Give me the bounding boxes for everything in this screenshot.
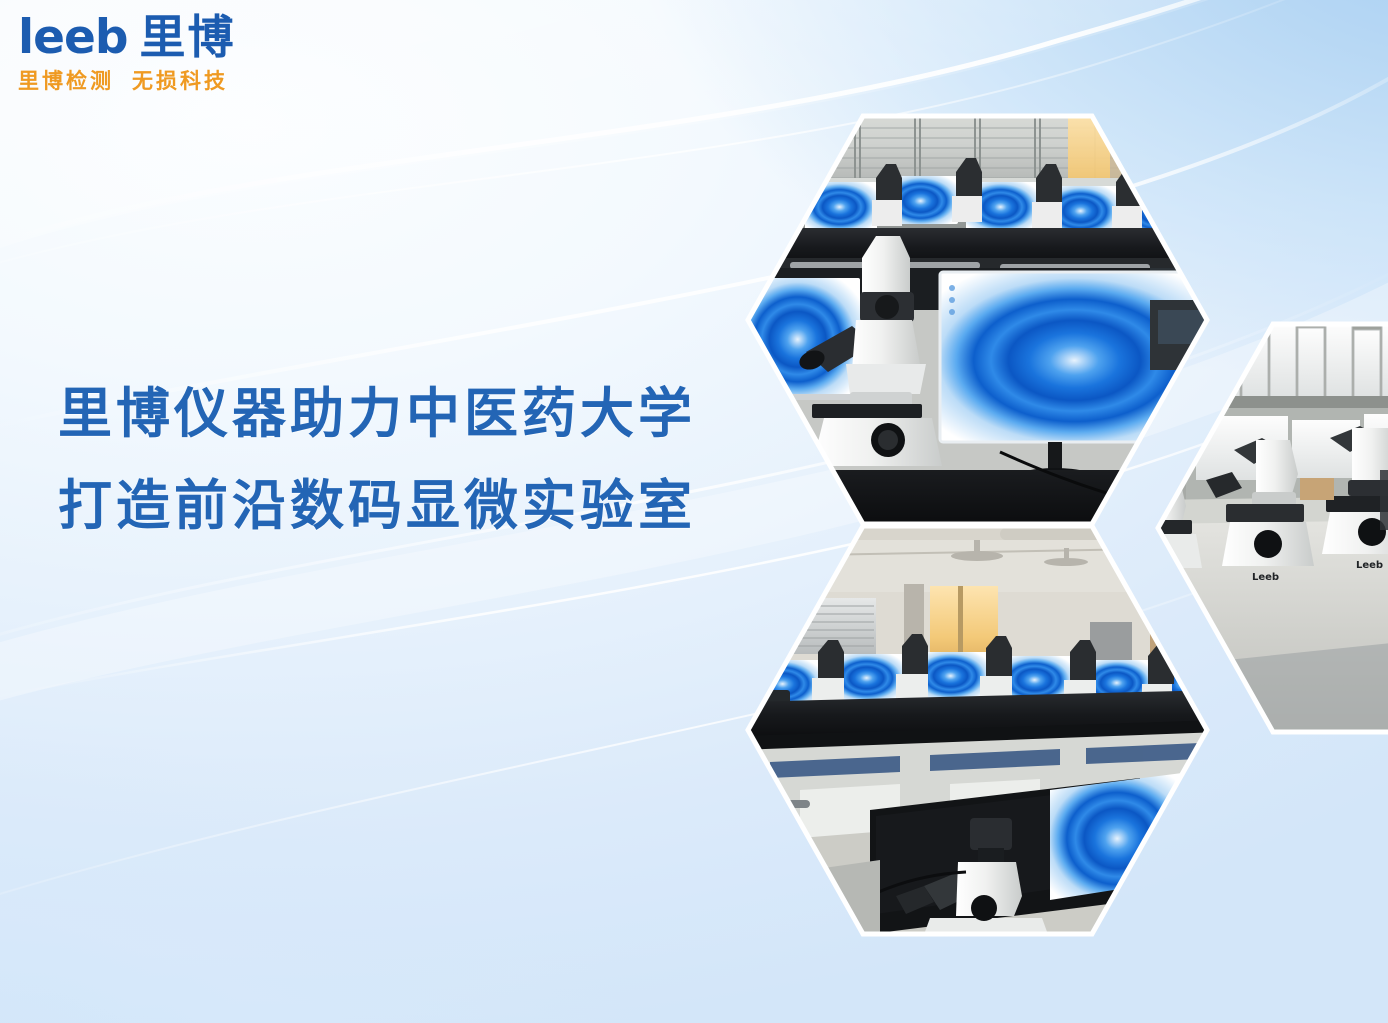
hexagon-photo-collage: Leeb bbox=[0, 0, 1388, 1023]
photo-hex-bottom bbox=[740, 520, 1220, 940]
svg-text:Leeb: Leeb bbox=[1356, 560, 1383, 571]
photo-hex-right: Leeb Leeb bbox=[1150, 320, 1388, 740]
banner-canvas: leeb里博 里博检测无损科技 里博仪器助力中医药大学 打造前沿数码显微实验室 bbox=[0, 0, 1388, 1023]
svg-text:Leeb: Leeb bbox=[1252, 572, 1279, 583]
photo-hex-top: Leeb bbox=[740, 110, 1220, 530]
